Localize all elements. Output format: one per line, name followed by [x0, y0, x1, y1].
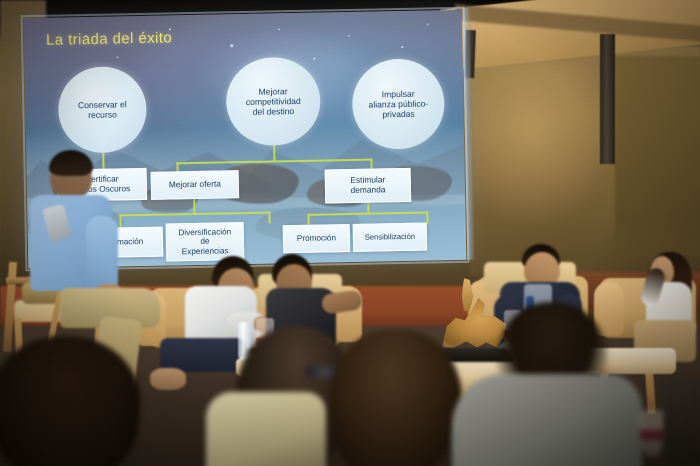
audience-man-right-shirt [452, 374, 642, 466]
panelist-second-trousers [160, 338, 246, 372]
screenshot-root: La triada del éxito Conservar el recurso… [0, 0, 700, 466]
wall-panel-far-right [615, 56, 700, 256]
tent-post-right [600, 34, 615, 164]
audience-chair-right [666, 380, 700, 466]
audience-woman-long-hair [330, 330, 462, 466]
warm-wall-glow [470, 60, 620, 230]
panelist-second-knee [150, 368, 186, 390]
audience-woman-left [0, 336, 140, 466]
audience-man-glasses-shirt [206, 392, 326, 466]
audience-wine-glass [640, 410, 664, 456]
